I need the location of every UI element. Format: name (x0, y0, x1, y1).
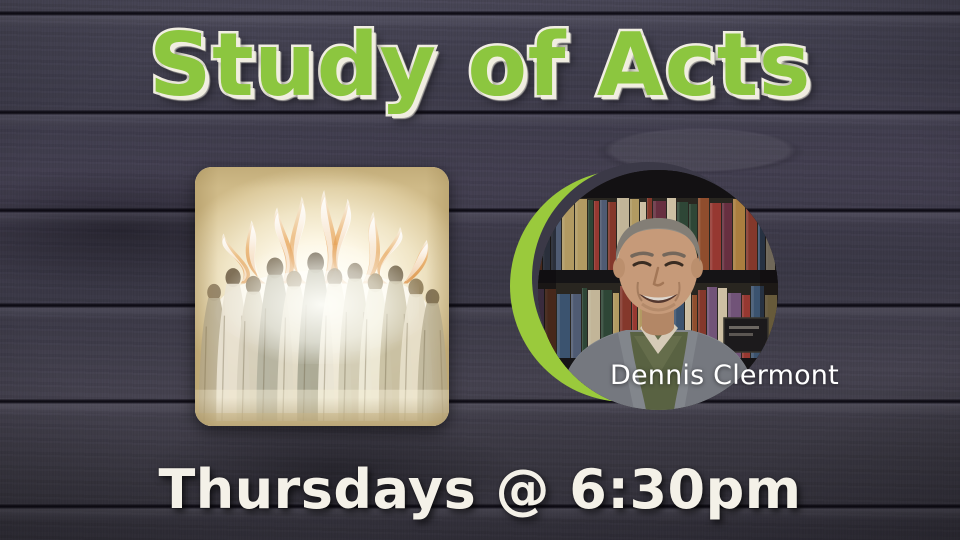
presentation-slide: Study of Acts Dennis Clermont Thursdays … (0, 0, 960, 540)
presenter-portrait-group: Dennis Clermont (510, 162, 810, 402)
pentecost-artwork (195, 167, 449, 426)
page-title: Study of Acts (0, 22, 960, 109)
artwork-illustration (195, 167, 449, 426)
presenter-name: Dennis Clermont (610, 360, 839, 391)
schedule-text: Thursdays @ 6:30pm (0, 458, 960, 521)
